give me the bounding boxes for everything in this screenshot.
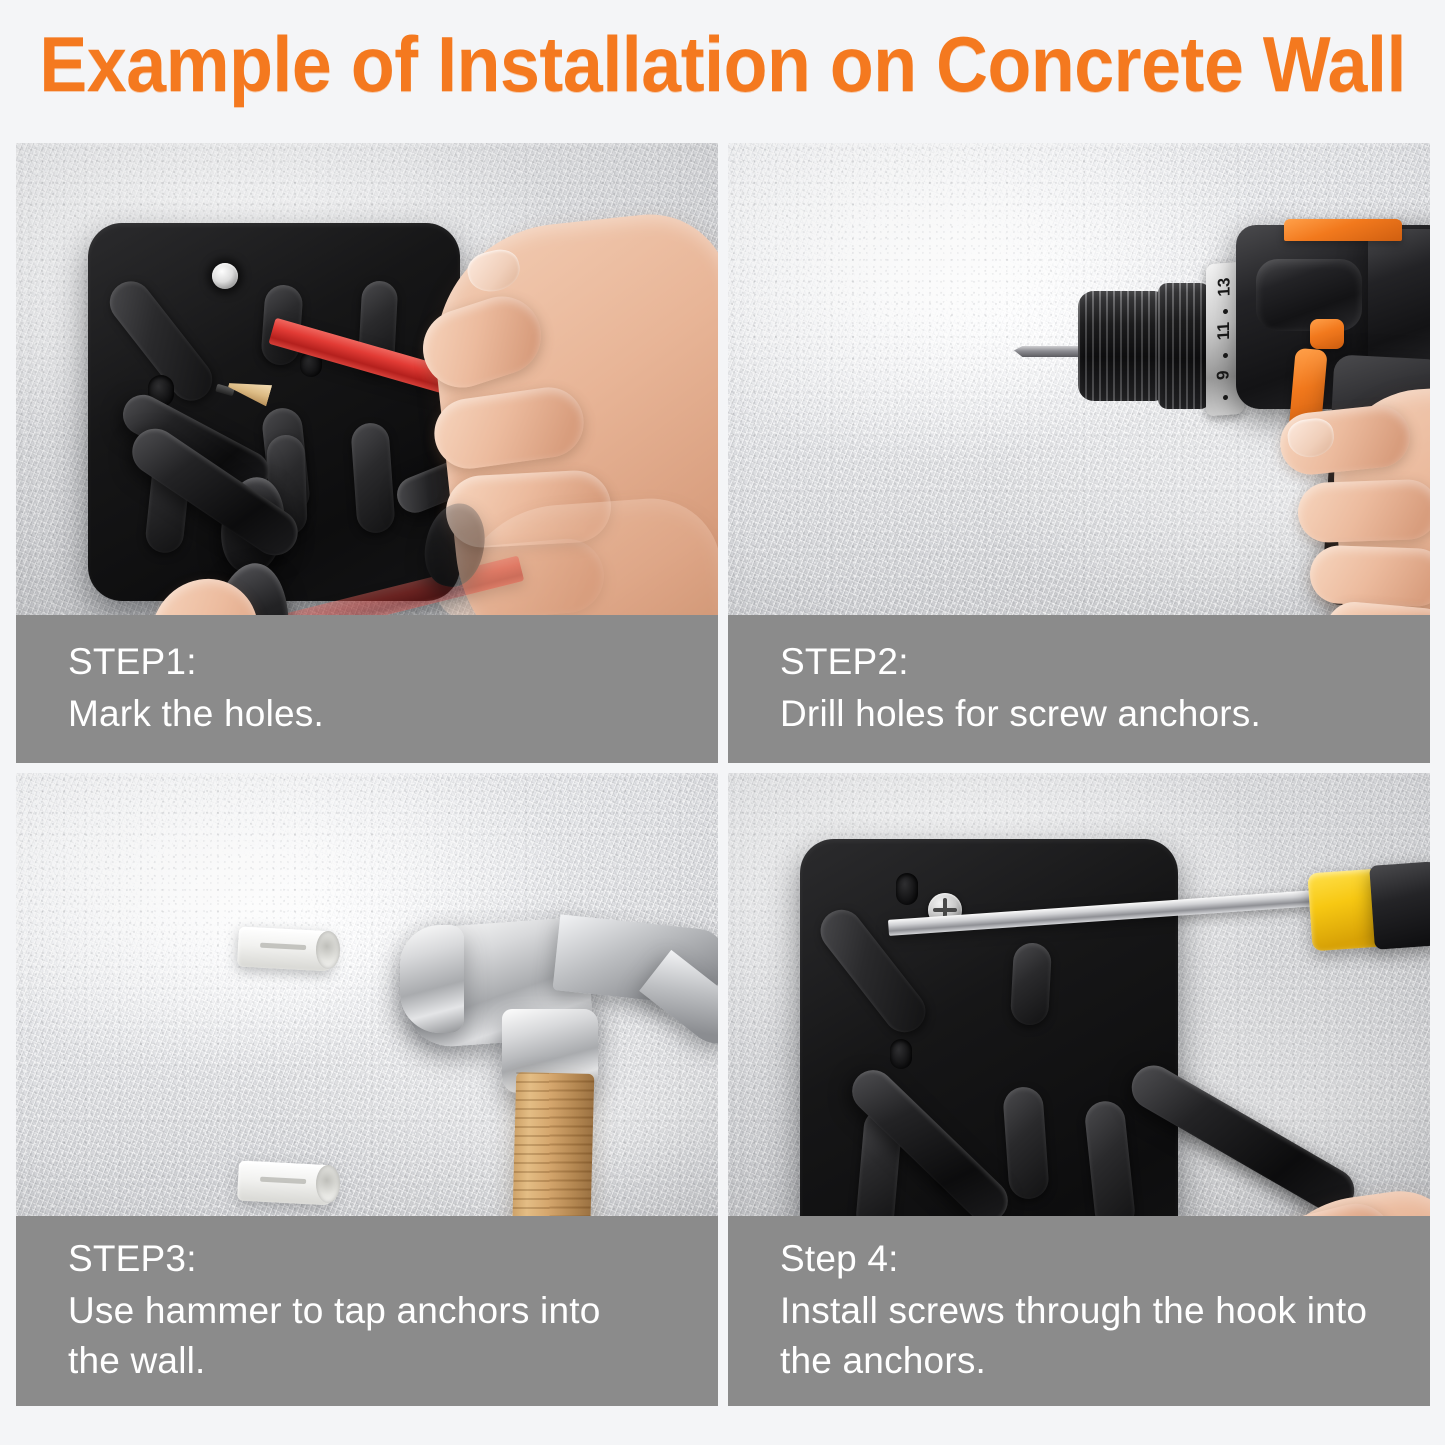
hammer-handle bbox=[508, 1072, 595, 1216]
hand-finger bbox=[1309, 545, 1430, 608]
chuck-collar-ribs bbox=[1158, 283, 1210, 409]
screwdriver-black-grip bbox=[1369, 860, 1430, 950]
step-panel-3: STEP3: Use hammer to tap anchors into th… bbox=[16, 773, 718, 1406]
step-panel-1: STEP1: Mark the holes. bbox=[16, 143, 718, 763]
step-3-text: Use hammer to tap anchors into the wall. bbox=[68, 1286, 628, 1386]
clutch-number-9: 9 bbox=[1214, 370, 1234, 381]
step-2-photo: 13 11 9 bbox=[728, 143, 1430, 615]
plate-bump bbox=[1002, 1086, 1050, 1201]
step-4-photo bbox=[728, 773, 1430, 1216]
page-title: Example of Installation on Concrete Wall bbox=[39, 25, 1406, 103]
step-1-text: Mark the holes. bbox=[68, 689, 718, 739]
drill-top-accent bbox=[1284, 219, 1402, 241]
step-1-photo bbox=[16, 143, 718, 615]
step-3-label: STEP3: bbox=[68, 1234, 718, 1284]
clutch-number-11: 11 bbox=[1214, 321, 1234, 340]
anchor-slot bbox=[260, 943, 306, 950]
handle-wood-grain bbox=[508, 1072, 595, 1216]
title-bar: Example of Installation on Concrete Wall bbox=[0, 0, 1445, 128]
step-3-caption: STEP3: Use hammer to tap anchors into th… bbox=[16, 1216, 718, 1406]
steps-grid: STEP1: Mark the holes. 13 bbox=[16, 143, 1430, 1416]
black-hook-plate bbox=[800, 839, 1178, 1216]
step-2-caption: STEP2: Drill holes for screw anchors. bbox=[728, 615, 1430, 763]
installation-guide-page: Example of Installation on Concrete Wall bbox=[0, 0, 1445, 1445]
step-2-label: STEP2: bbox=[780, 637, 1430, 687]
step-1-label: STEP1: bbox=[68, 637, 718, 687]
step-panel-4: Step 4: Install screws through the hook … bbox=[728, 773, 1430, 1406]
step-4-caption: Step 4: Install screws through the hook … bbox=[728, 1216, 1430, 1406]
clutch-dot bbox=[1223, 309, 1228, 314]
plate-mount-slot bbox=[890, 1039, 912, 1069]
step-4-label: Step 4: bbox=[780, 1234, 1430, 1284]
step-1-caption: STEP1: Mark the holes. bbox=[16, 615, 718, 763]
anchor-slot bbox=[260, 1177, 306, 1184]
step-panel-2: 13 11 9 bbox=[728, 143, 1430, 763]
step-4-text: Install screws through the hook into the… bbox=[780, 1286, 1380, 1386]
ghost-overlay bbox=[16, 143, 718, 615]
clutch-number-13: 13 bbox=[1214, 277, 1234, 297]
hammer-face bbox=[400, 925, 464, 1033]
drill-chuck-collar bbox=[1158, 283, 1210, 409]
hand-finger bbox=[1297, 479, 1430, 544]
clutch-dot bbox=[1223, 395, 1228, 400]
step-2-text: Drill holes for screw anchors. bbox=[780, 689, 1430, 739]
anchor-mouth-upper bbox=[316, 931, 340, 969]
drill-chuck bbox=[1078, 291, 1164, 401]
clutch-dot bbox=[1223, 353, 1228, 358]
plate-mount-slot bbox=[896, 873, 918, 905]
plate-bump bbox=[1010, 942, 1052, 1026]
chuck-ribs bbox=[1078, 291, 1164, 401]
anchor-mouth-lower bbox=[316, 1165, 340, 1203]
drill-body-panel bbox=[1256, 259, 1362, 331]
step-3-photo bbox=[16, 773, 718, 1216]
drill-bit bbox=[1014, 346, 1084, 357]
plate-bump bbox=[1083, 1099, 1136, 1216]
forward-reverse-switch bbox=[1310, 319, 1344, 349]
